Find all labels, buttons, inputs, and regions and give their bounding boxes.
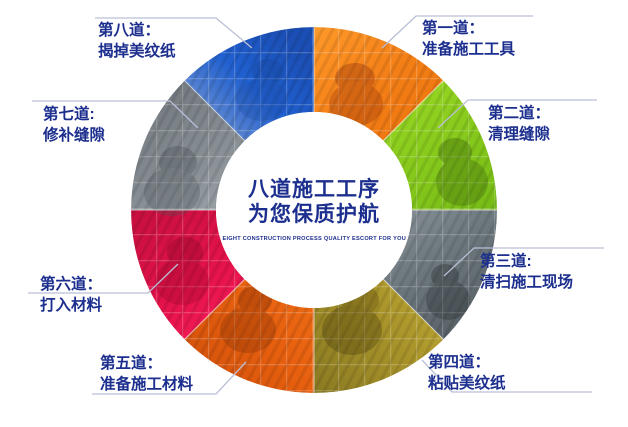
callout-step-5[interactable]: 第五道： 准备施工材料 [100, 353, 193, 395]
callout-step-4-desc: 粘贴美纹纸 [428, 373, 506, 394]
callout-step-1-title: 第一道： [422, 18, 515, 39]
callout-step-7-title: 第七道: [43, 104, 105, 125]
callout-step-8-desc: 揭掉美纹纸 [98, 41, 176, 62]
hub-title-line2: 为您保质护航 [248, 202, 380, 227]
callout-step-4-title: 第四道： [428, 352, 506, 373]
callout-step-1[interactable]: 第一道： 准备施工工具 [422, 18, 515, 60]
callout-step-3-title: 第三道: [480, 251, 573, 272]
callout-step-2[interactable]: 第二道： 清理缝隙 [488, 103, 550, 145]
callout-step-5-desc: 准备施工材料 [100, 374, 193, 395]
callout-step-7[interactable]: 第七道: 修补缝隙 [43, 104, 105, 146]
hub-title-line1: 八道施工工序 [248, 177, 380, 202]
callout-step-6-title: 第六道： [40, 274, 102, 295]
center-hub: 八道施工工序 为您保质护航 EIGHT CONSTRUCTION PROCESS… [216, 112, 412, 308]
callout-step-6-desc: 打入材料 [40, 295, 102, 316]
callout-step-5-title: 第五道： [100, 353, 193, 374]
hub-english-subtitle: EIGHT CONSTRUCTION PROCESS QUALITY ESCOR… [222, 236, 406, 242]
callout-step-1-desc: 准备施工工具 [422, 39, 515, 60]
callout-step-6[interactable]: 第六道： 打入材料 [40, 274, 102, 316]
callout-step-2-desc: 清理缝隙 [488, 124, 550, 145]
callout-step-3-desc: 清扫施工现场 [480, 272, 573, 293]
callout-step-3[interactable]: 第三道: 清扫施工现场 [480, 251, 573, 293]
callout-step-2-title: 第二道： [488, 103, 550, 124]
callout-step-8[interactable]: 第八道： 揭掉美纹纸 [98, 20, 176, 62]
callout-step-7-desc: 修补缝隙 [43, 125, 105, 146]
poster-canvas: 八道施工工序 为您保质护航 EIGHT CONSTRUCTION PROCESS… [0, 0, 628, 427]
callout-step-8-title: 第八道： [98, 20, 176, 41]
callout-step-4[interactable]: 第四道： 粘贴美纹纸 [428, 352, 506, 394]
